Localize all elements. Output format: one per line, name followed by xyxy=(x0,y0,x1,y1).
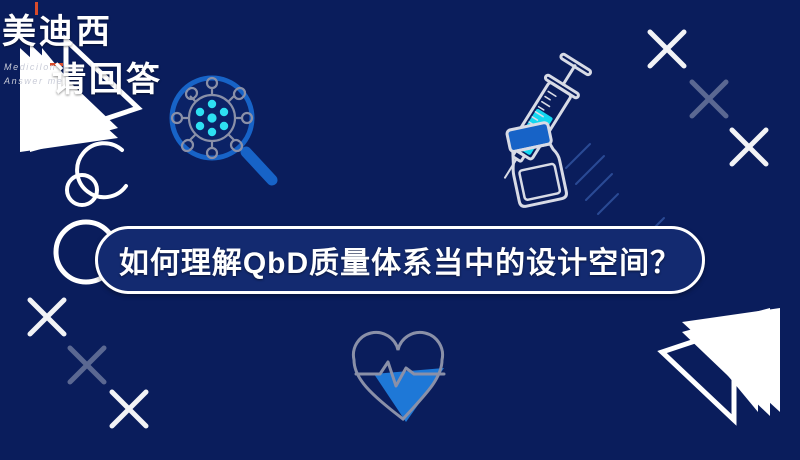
cross-bottom-left-2-icon xyxy=(70,348,104,382)
poster-canvas: 美迪西 请回答 Medicilon Answer me 如何理解QbD质量体系当… xyxy=(0,0,800,460)
cross-bottom-left-1-icon xyxy=(30,300,64,334)
cross-top-right-1-icon xyxy=(650,32,684,66)
logo-chinese-line-2: 请回答 xyxy=(52,52,163,101)
cross-top-right-3-icon xyxy=(732,130,766,164)
vial-icon xyxy=(496,118,588,210)
double-triangle-right-icon xyxy=(662,308,780,420)
cross-top-right-2-icon xyxy=(692,82,726,116)
logo-english-line-1: Medicilon xyxy=(4,62,56,72)
cross-bottom-left-3-icon xyxy=(112,392,146,426)
logo-chinese-line-1: 美迪西 xyxy=(2,4,113,53)
magnifier-virus-icon xyxy=(160,68,280,186)
logo-english-line-2: Answer me xyxy=(4,76,63,86)
open-arc-icon xyxy=(77,143,126,197)
page-title: 如何理解QbD质量体系当中的设计空间？ xyxy=(119,238,681,282)
heart-pulse-icon xyxy=(348,324,458,426)
title-banner: 如何理解QbD质量体系当中的设计空间？ xyxy=(95,226,705,294)
